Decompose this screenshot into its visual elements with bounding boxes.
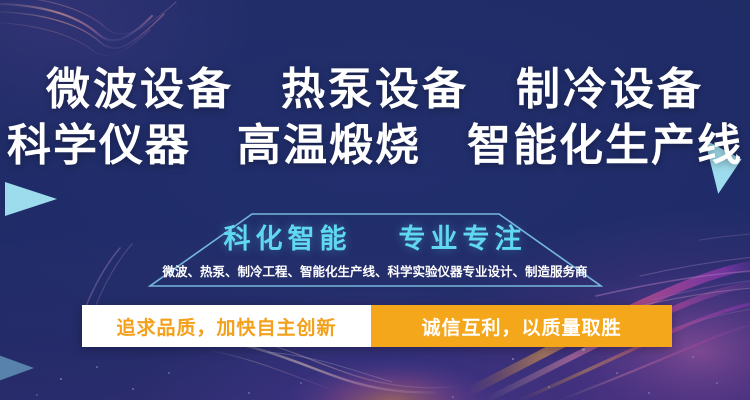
slogan-bar: 追求品质，加快自主创新 诚信互利，以质量取胜 [82, 305, 672, 347]
slogan-left: 追求品质，加快自主创新 [82, 305, 371, 347]
cyan-triangle-left-icon [5, 182, 57, 216]
subtitle-main: 科化智能 专业专注 [0, 222, 750, 256]
headline-line-2: 科学仪器 高温煅烧 智能化生产线 [0, 118, 750, 174]
headline-line-1: 微波设备 热泵设备 制冷设备 [0, 62, 750, 118]
subtitle-main-left: 科化智能 [223, 224, 351, 254]
slogan-right: 诚信互利，以质量取胜 [371, 305, 672, 347]
headline: 微波设备 热泵设备 制冷设备 科学仪器 高温煅烧 智能化生产线 [0, 62, 750, 174]
subtitle-main-right: 专业专注 [399, 224, 527, 254]
cyan-triangle-bottom-left-icon [0, 352, 34, 384]
promo-banner: 微波设备 热泵设备 制冷设备 科学仪器 高温煅烧 智能化生产线 科化智能 专业专… [0, 0, 750, 400]
subtitle-description: 微波、热泵、制冷工程、智能化生产线、科学实验仪器专业设计、制造服务商 [0, 263, 750, 281]
